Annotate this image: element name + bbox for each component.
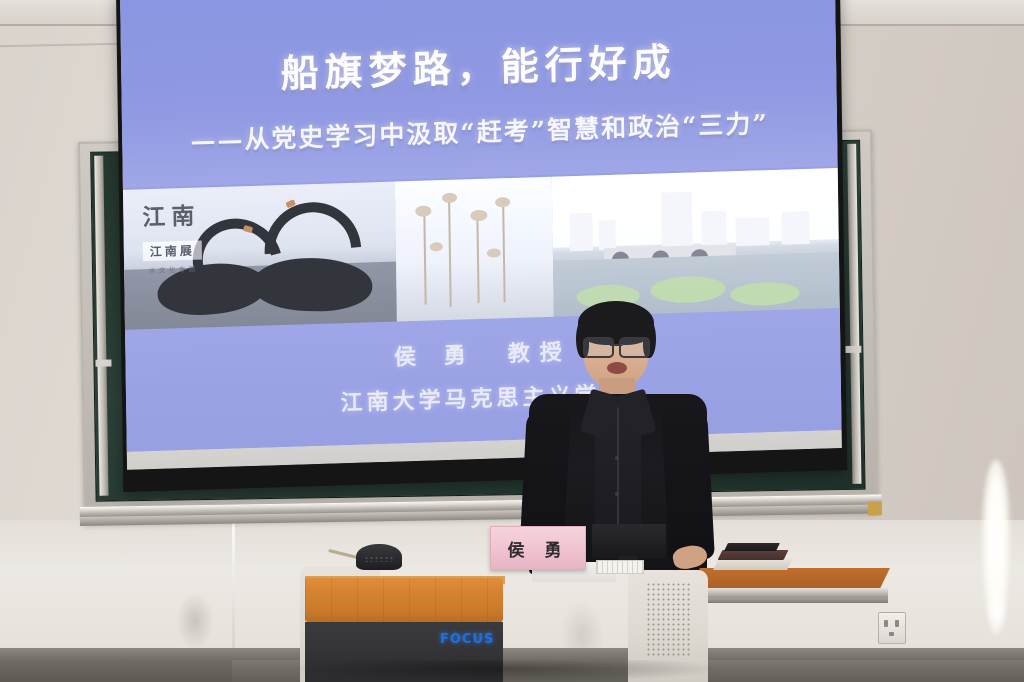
presentation-slide: 船旗梦路，能行好成 ——从党史学习中汲取“赶考”智慧和政治“三力” 江南 江南展: [120, 0, 841, 452]
eyeglasses-icon: [583, 337, 650, 354]
building-tower: [661, 190, 693, 248]
photo-caption-small: 水文化专题: [149, 265, 199, 277]
shirt-button-1: [615, 456, 619, 460]
wall-glare-light-lower: [986, 590, 1008, 632]
presenter-mouth: [607, 362, 627, 374]
lotus-pod-4: [495, 197, 510, 207]
outlet-slot-right: [895, 620, 899, 627]
podium-floor-shadow: [292, 660, 722, 682]
nameplate: 侯 勇: [490, 526, 586, 570]
lotus-pod-3: [470, 210, 487, 222]
presenter-arm-right: [661, 409, 715, 561]
projection-screen: 船旗梦路，能行好成 ——从党史学习中汲取“赶考”智慧和政治“三力” 江南 江南展: [116, 0, 847, 492]
lecture-hall-scene: 船旗梦路，能行好成 ——从党史学习中汲取“赶考”智慧和政治“三力” 江南 江南展: [0, 0, 1024, 682]
lotus-stem-1: [423, 213, 426, 305]
board-rail-clip-right: [845, 346, 861, 353]
outlet-slot-left: [884, 620, 888, 627]
desk-edge-rail-lower: [692, 598, 888, 603]
nameplate-text: 侯 勇: [508, 536, 569, 561]
book-stack-middle[interactable]: [718, 550, 789, 560]
wood-grain-texture: [305, 578, 503, 622]
photo-caption-jiangnan: 江南: [142, 196, 200, 232]
photo-lake-bridge-city: [552, 168, 840, 325]
lotus-pod-6: [487, 248, 501, 257]
notebook-top[interactable]: [724, 543, 780, 551]
podium-brand-logo: FOCUS: [440, 632, 494, 647]
lotus-stem-2: [448, 201, 452, 308]
microphone-grille: [364, 556, 394, 562]
lotus-stem-4: [502, 205, 505, 303]
lotus-pod-2: [442, 193, 457, 203]
building-4: [735, 216, 770, 246]
side-desk: [700, 562, 890, 620]
building-5: [781, 210, 810, 244]
shirt-button-2: [615, 492, 619, 496]
lotus-pod-1: [415, 206, 431, 217]
building-1: [569, 211, 592, 251]
lotus-stem-3: [477, 217, 480, 303]
screen-surface: 船旗梦路，能行好成 ——从党史学习中汲取“赶考”智慧和政治“三力” 江南 江南展: [120, 0, 842, 470]
lotus-pod-5: [430, 242, 443, 251]
podium-wood-panel: [305, 578, 503, 622]
photo-caption-badge: 江南展: [143, 241, 202, 262]
chalk-tray-end-cap: [868, 501, 882, 515]
building-2: [598, 219, 616, 250]
podium-keyboard[interactable]: [596, 560, 644, 574]
eyeglass-lens-right: [619, 337, 650, 358]
wall-mark-left: [176, 592, 214, 650]
outlet-ground-slot: [889, 632, 894, 636]
photo-black-swans: 江南 江南展 水文化专题: [123, 182, 397, 338]
podium-speaker-grille-right: [646, 582, 690, 658]
board-rail-clip-left: [95, 360, 111, 367]
eyeglass-lens-left: [583, 337, 614, 358]
building-3: [701, 210, 727, 247]
desk-surface[interactable]: [689, 568, 890, 590]
podium-monitor[interactable]: [592, 524, 666, 558]
